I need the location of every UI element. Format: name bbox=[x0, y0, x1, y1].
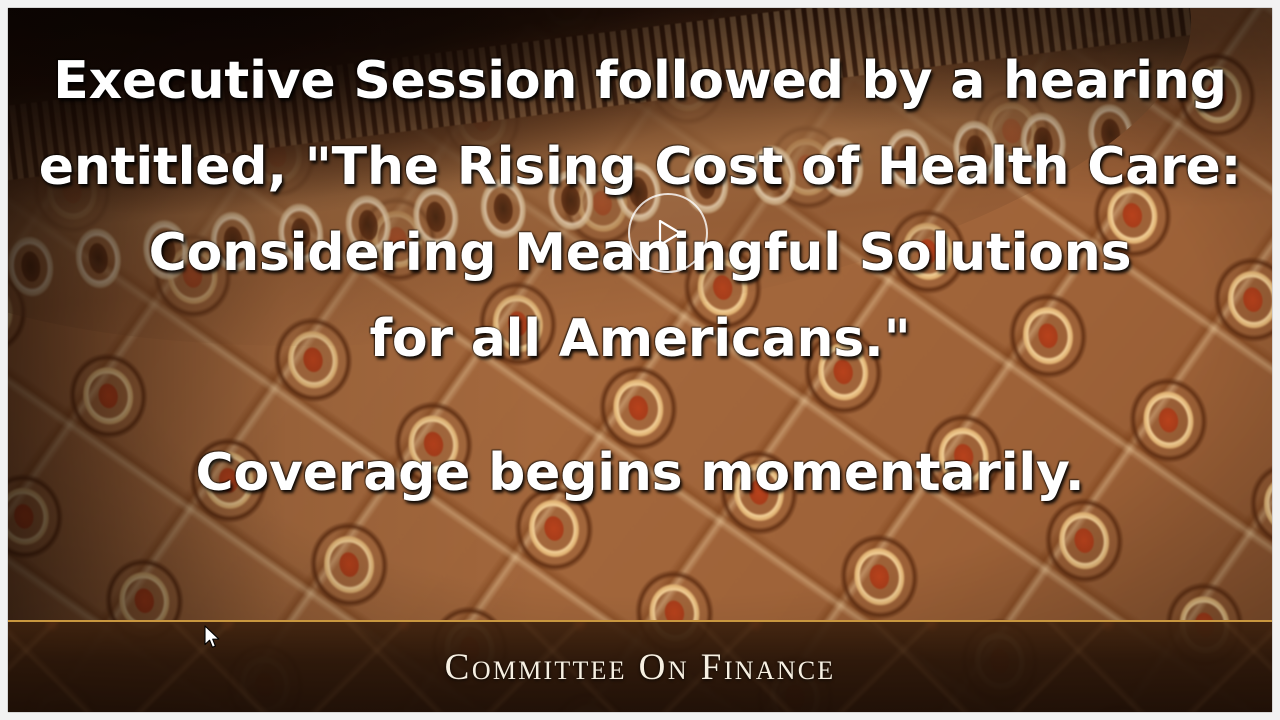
banner-title-ommittee: OMMITTEE bbox=[472, 656, 627, 685]
banner-title: COMMITTEE ON FINANCE bbox=[445, 646, 836, 689]
play-triangle-icon bbox=[653, 219, 683, 247]
committee-banner: COMMITTEE ON FINANCE bbox=[8, 620, 1272, 712]
banner-title-inance: INANCE bbox=[724, 656, 835, 685]
video-stage[interactable]: Executive Session followed by a hearing … bbox=[8, 8, 1272, 712]
banner-title-o: O bbox=[627, 647, 668, 688]
page-frame: Executive Session followed by a hearing … bbox=[0, 0, 1280, 720]
video-player[interactable]: Executive Session followed by a hearing … bbox=[8, 8, 1272, 712]
banner-title-n: N bbox=[668, 656, 689, 685]
play-button[interactable] bbox=[628, 193, 708, 273]
banner-title-c: C bbox=[445, 647, 472, 688]
banner-title-f: F bbox=[689, 647, 724, 688]
